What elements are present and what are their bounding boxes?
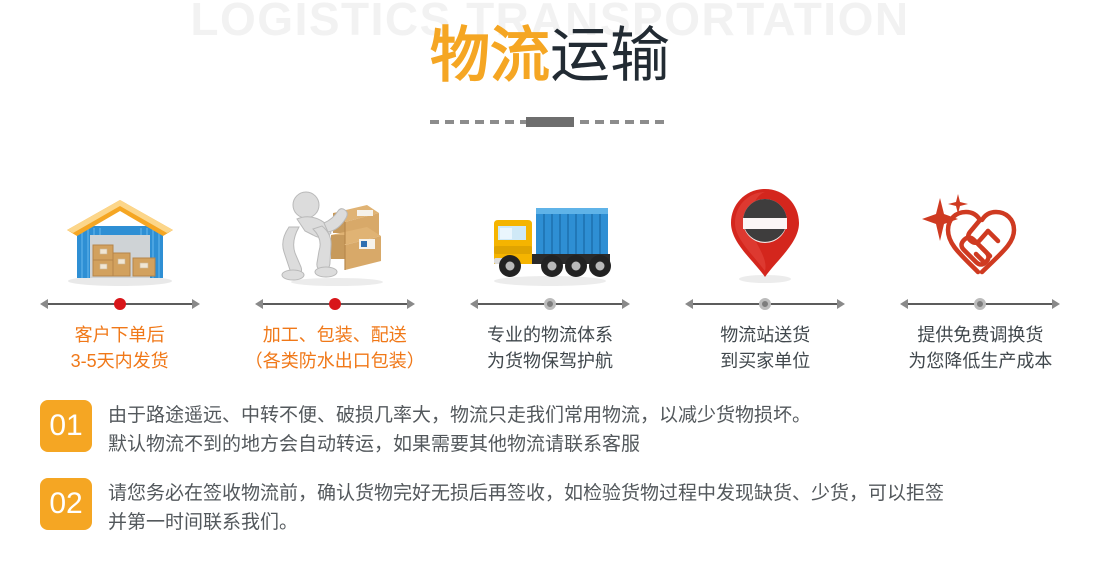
- feature-icon-slot: [227, 178, 442, 288]
- arrow-right-icon: [1052, 299, 1060, 309]
- feature-divider-bar: [900, 296, 1060, 312]
- page-title: 物流运输: [0, 22, 1100, 89]
- feature-caption-line2: （各类防水出口包装）: [227, 348, 442, 374]
- title-divider: [0, 112, 1100, 132]
- divider-dot: [329, 298, 341, 310]
- note-item: 02 请您务必在签收物流前，确认货物完好无损后再签收，如检验货物过程中发现缺货、…: [40, 478, 1060, 538]
- feature-caption-line2: 到买家单位: [658, 348, 873, 374]
- feature-item-delivery-station: 物流站送货 到买家单位: [658, 178, 873, 374]
- feature-icon-slot: [873, 178, 1088, 288]
- divider-dot: [544, 298, 556, 310]
- divider-center-block: [526, 117, 574, 127]
- arrow-right-icon: [407, 299, 415, 309]
- map-pin-icon: [720, 183, 810, 288]
- feature-caption-line1: 客户下单后: [12, 322, 227, 348]
- notes-section: 01 由于路途遥远、中转不便、破损几率大，物流只走我们常用物流，以减少货物损坏。…: [0, 400, 1100, 556]
- feature-caption-line1: 提供免费调换货: [873, 322, 1088, 348]
- page-title-rest: 运输: [550, 22, 670, 89]
- feature-item-warehouse: 客户下单后 3-5天内发货: [12, 178, 227, 374]
- arrow-left-icon: [900, 299, 908, 309]
- feature-caption: 专业的物流体系 为货物保驾护航: [442, 322, 657, 374]
- divider-dot: [114, 298, 126, 310]
- note-text: 请您务必在签收物流前，确认货物完好无损后再签收，如检验货物过程中发现缺货、少货，…: [108, 478, 944, 538]
- page-title-highlight: 物流: [430, 22, 550, 89]
- arrow-left-icon: [40, 299, 48, 309]
- feature-divider-bar: [255, 296, 415, 312]
- feature-divider-bar: [685, 296, 845, 312]
- feature-caption: 加工、包装、配送 （各类防水出口包装）: [227, 322, 442, 374]
- feature-caption-line1: 专业的物流体系: [442, 322, 657, 348]
- feature-caption-line2: 为货物保驾护航: [442, 348, 657, 374]
- note-number-badge: 02: [40, 478, 92, 530]
- worker-packing-boxes-icon: [275, 183, 395, 288]
- arrow-right-icon: [192, 299, 200, 309]
- note-line: 并第一时间联系我们。: [108, 508, 944, 537]
- note-number-badge: 01: [40, 400, 92, 452]
- feature-caption: 物流站送货 到买家单位: [658, 322, 873, 374]
- feature-caption-line1: 加工、包装、配送: [227, 322, 442, 348]
- feature-caption-line2: 3-5天内发货: [12, 348, 227, 374]
- warehouse-icon: [55, 188, 185, 288]
- note-text: 由于路途遥远、中转不便、破损几率大，物流只走我们常用物流，以减少货物损坏。 默认…: [108, 400, 811, 460]
- title-divider-inner: [430, 112, 670, 132]
- sparkle-icon: [922, 194, 968, 241]
- page-root: LOGISTICS TRANSPORTATION 物流运输: [0, 0, 1100, 567]
- arrow-left-icon: [255, 299, 263, 309]
- feature-divider-bar: [470, 296, 630, 312]
- feature-icon-slot: [442, 178, 657, 288]
- note-line: 默认物流不到的地方会自动转运，如果需要其他物流请联系客服: [108, 430, 811, 459]
- feature-item-packing: 加工、包装、配送 （各类防水出口包装）: [227, 178, 442, 374]
- feature-caption: 客户下单后 3-5天内发货: [12, 322, 227, 374]
- arrow-left-icon: [470, 299, 478, 309]
- feature-icon-slot: [658, 178, 873, 288]
- feature-icon-slot: [12, 178, 227, 288]
- arrow-left-icon: [685, 299, 693, 309]
- feature-caption-line2: 为您降低生产成本: [873, 348, 1088, 374]
- feature-item-truck: 专业的物流体系 为货物保驾护航: [442, 178, 657, 374]
- page-header: LOGISTICS TRANSPORTATION 物流运输: [0, 0, 1100, 150]
- divider-dot: [974, 298, 986, 310]
- feature-item-free-exchange: 提供免费调换货 为您降低生产成本: [873, 178, 1088, 374]
- arrow-right-icon: [622, 299, 630, 309]
- note-line: 请您务必在签收物流前，确认货物完好无损后再签收，如检验货物过程中发现缺货、少货，…: [108, 479, 944, 508]
- feature-divider-bar: [40, 296, 200, 312]
- feature-caption: 提供免费调换货 为您降低生产成本: [873, 322, 1088, 374]
- arrow-right-icon: [837, 299, 845, 309]
- divider-dot: [759, 298, 771, 310]
- handshake-heart-icon: [920, 188, 1040, 288]
- note-item: 01 由于路途遥远、中转不便、破损几率大，物流只走我们常用物流，以减少货物损坏。…: [40, 400, 1060, 460]
- container-truck-icon: [480, 198, 620, 288]
- note-line: 由于路途遥远、中转不便、破损几率大，物流只走我们常用物流，以减少货物损坏。: [108, 401, 811, 430]
- feature-row: 客户下单后 3-5天内发货: [0, 150, 1100, 374]
- feature-caption-line1: 物流站送货: [658, 322, 873, 348]
